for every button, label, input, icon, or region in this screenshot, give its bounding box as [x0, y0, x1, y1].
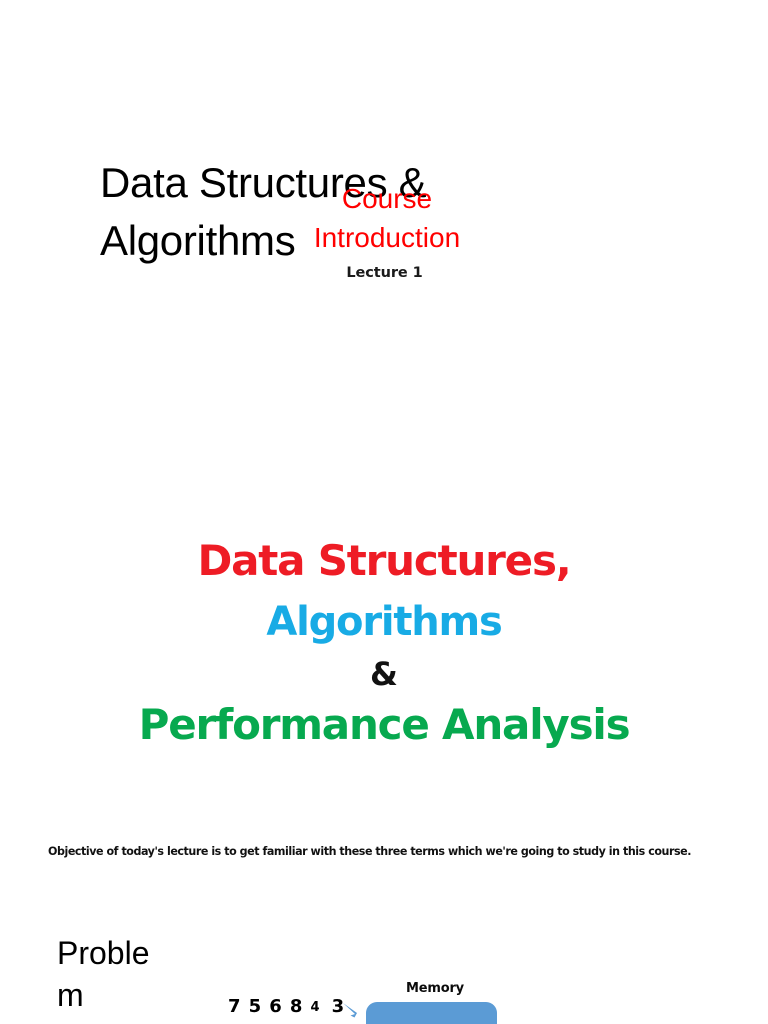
- lecture-objective-note: Objective of today's lecture is to get f…: [48, 845, 728, 858]
- number-stream: 7 5 6 8 4 3: [228, 996, 344, 1017]
- slide-key-terms: Data Structures, Algorithms & Performanc…: [0, 520, 768, 746]
- term-ampersand: &: [0, 642, 768, 690]
- document-page: Data Structures & Algorithms Course Intr…: [0, 0, 768, 1024]
- course-subtitle: Course Introduction: [302, 180, 472, 257]
- number-item: 6: [269, 996, 282, 1017]
- term-algorithms: Algorithms: [0, 582, 768, 642]
- number-item: 7: [228, 996, 241, 1017]
- term-data-structures: Data Structures,: [0, 520, 768, 582]
- number-item: 5: [249, 996, 262, 1017]
- arrow-down-right-icon: [342, 1002, 364, 1018]
- lecture-number-label: Lecture 1: [287, 265, 482, 281]
- number-item: 4: [311, 1000, 320, 1015]
- slide-course-title: Data Structures & Algorithms Course Intr…: [0, 0, 768, 300]
- memory-label: Memory: [366, 981, 504, 996]
- memory-box: [366, 1002, 497, 1024]
- problem-heading: Problem: [57, 932, 153, 1017]
- number-item: 8: [290, 996, 303, 1017]
- term-performance-analysis: Performance Analysis: [0, 690, 768, 746]
